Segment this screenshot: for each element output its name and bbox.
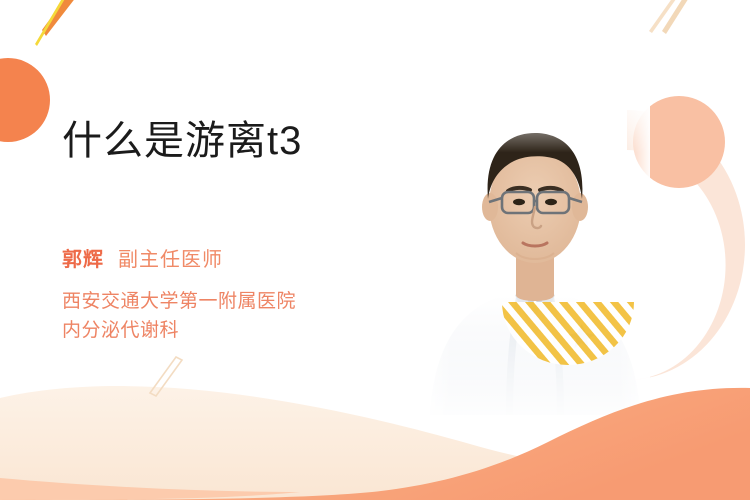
doctor-portrait-photo [420,95,650,415]
doctor-identity-line: 郭辉副主任医师 [62,248,223,272]
doctor-name: 郭辉 [62,249,104,271]
doctor-department: 内分泌代谢科 [62,317,179,345]
doctor-hospital: 西安交通大学第一附属医院 [62,288,296,316]
video-cover-canvas: 什么是游离t3 郭辉副主任医师 西安交通大学第一附属医院 内分泌代谢科 [0,0,750,500]
page-title: 什么是游离t3 [62,118,302,164]
doctor-job-title: 副主任医师 [118,249,223,271]
